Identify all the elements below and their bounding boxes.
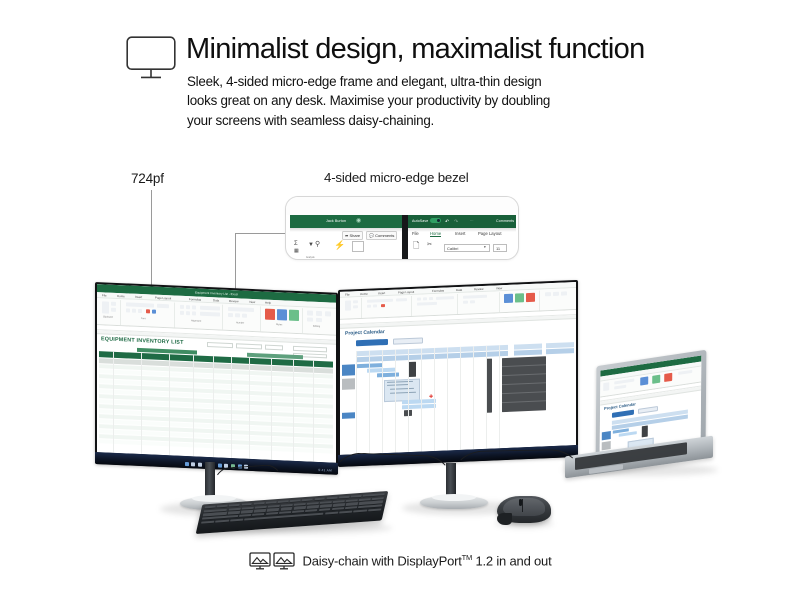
mouse-button-split	[522, 499, 523, 512]
monitor-left: Equipment Inventory List - Excel File Ho…	[95, 282, 338, 475]
excel-window-right: File Home Insert Page Layout Formulas Da…	[340, 282, 576, 455]
tab-home[interactable]: Home	[117, 294, 125, 298]
comments-button[interactable]: 💬 Comments	[366, 231, 397, 240]
clock-left: 9:41 AM	[318, 468, 332, 473]
monitor-right-screen: File Home Insert Page Layout Formulas Da…	[340, 282, 576, 455]
ribbon-group-clipboard	[342, 298, 362, 319]
redo-icon[interactable]: ↷	[454, 219, 458, 225]
right-dots: ⋯	[470, 219, 474, 223]
ribbon-group-alignment	[414, 294, 458, 316]
tab-review[interactable]: Review	[474, 287, 483, 291]
mouse-thumb-rest	[497, 513, 512, 525]
tab-data[interactable]: Data	[213, 298, 219, 302]
bezel-callout-label: 4-sided micro-edge bezel	[324, 170, 469, 185]
spreadsheet-right[interactable]: Project Calendar	[340, 315, 576, 455]
start-icon[interactable]	[185, 462, 189, 466]
day-header-row-3	[546, 348, 574, 354]
trademark-symbol: TM	[462, 553, 472, 562]
excel-window-left: Equipment Inventory List - Excel File Ho…	[97, 284, 336, 463]
day-header-row-2	[514, 349, 542, 355]
left-titlebar-user: Jack Burton	[326, 219, 346, 223]
mouse[interactable]	[497, 490, 551, 526]
gantt-bar-dark[interactable]	[642, 425, 648, 437]
ribbon-group-font	[364, 296, 412, 318]
tab-formulas[interactable]: Formulas	[189, 297, 201, 302]
chevron-down-icon[interactable]: ▾	[484, 245, 486, 249]
filter-box-2[interactable]	[236, 343, 262, 349]
monitor-icon	[126, 36, 176, 82]
description-line-2: looks great on any desk. Maximise your p…	[187, 91, 657, 110]
ribbon-group-number	[460, 292, 500, 314]
tab-help[interactable]: Help	[265, 301, 271, 305]
tab-insert[interactable]: Insert	[135, 295, 142, 299]
gantt-bar-dark[interactable]	[486, 359, 492, 413]
tab-insert[interactable]: Insert	[378, 291, 385, 295]
search-icon[interactable]	[191, 462, 195, 466]
right-glare	[408, 228, 516, 232]
share-button[interactable]: ➦ Share	[342, 231, 363, 240]
right-comments-label: Comments	[496, 219, 514, 223]
monitor-right: File Home Insert Page Layout Formulas Da…	[338, 280, 578, 467]
filter-icon[interactable]: ▼	[308, 242, 314, 248]
filter-box-4[interactable]	[293, 346, 327, 353]
review-label	[342, 412, 355, 419]
ribbon-group-alignment: Alignment	[177, 303, 223, 330]
phase-two-label	[602, 441, 611, 450]
sigma-icon[interactable]: Σ	[294, 241, 298, 247]
ribbon-group-styles	[502, 291, 540, 313]
phase-one-label	[602, 431, 611, 440]
spreadsheet-left[interactable]: EQUIPMENT INVENTORY LIST	[97, 330, 336, 463]
desk-scene: Equipment Inventory List - Excel File Ho…	[0, 250, 800, 560]
date-button[interactable]	[393, 337, 423, 344]
description-line-1: Sleek, 4-sided micro-edge frame and eleg…	[187, 72, 657, 91]
phase-two-label	[342, 378, 355, 390]
flash-fill-icon[interactable]: ⚡	[334, 241, 345, 250]
footer-text-after: 1.2 in and out	[472, 554, 551, 569]
gantt-bar[interactable]	[377, 372, 399, 377]
bubble-top-blank	[286, 197, 518, 215]
scissors-icon[interactable]: ✂	[427, 242, 432, 248]
page-title: Minimalist design, maximalist function	[186, 33, 645, 66]
undo-icon[interactable]: ↶	[445, 219, 449, 225]
filter-box-1[interactable]	[207, 342, 233, 348]
user-avatar-icon: ◉	[356, 218, 361, 224]
date-button[interactable]	[638, 406, 658, 414]
gantt-bar-dark[interactable]	[408, 362, 416, 377]
tab-view[interactable]: View	[249, 300, 255, 304]
model-label: 724pf	[131, 171, 164, 186]
tab-home[interactable]: Home	[360, 292, 368, 296]
ribbon-group-number: Number	[225, 305, 261, 332]
footer-text-before: Daisy-chain with DisplayPort	[303, 554, 462, 569]
paste-icon[interactable]: 🗋	[413, 242, 419, 250]
ribbon-group-editing	[543, 289, 573, 310]
tab-review[interactable]: Review	[229, 299, 238, 303]
sheet-title-left: EQUIPMENT INVENTORY LIST	[101, 336, 184, 346]
new-project-button[interactable]	[612, 410, 634, 418]
dual-display-icon	[249, 552, 295, 570]
ribbon-group-font: Font	[123, 300, 175, 327]
right-titlebar: AutoSave ↶ ↷ ⋯ Comments	[408, 215, 516, 228]
search-icon[interactable]: ⚲	[315, 241, 320, 248]
excel-title-left: Equipment Inventory List - Excel	[195, 290, 238, 296]
description-line-3: your screens with seamless daisy-chainin…	[187, 111, 657, 130]
footer-text: Daisy-chain with DisplayPortTM 1.2 in an…	[303, 553, 552, 568]
mail-icon[interactable]	[218, 463, 222, 467]
sheet-title-right: Project Calendar	[345, 329, 385, 337]
left-titlebar: Jack Burton ◉	[290, 215, 402, 228]
tab-page-layout[interactable]: Page Layout	[398, 290, 414, 295]
monitor-left-screen: Equipment Inventory List - Excel File Ho…	[97, 284, 336, 463]
tab-view[interactable]: View	[496, 286, 502, 290]
left-glare	[290, 228, 402, 232]
tab-data[interactable]: Data	[456, 288, 462, 292]
footer-caption: Daisy-chain with DisplayPortTM 1.2 in an…	[0, 552, 800, 570]
page-description: Sleek, 4-sided micro-edge frame and eleg…	[187, 72, 657, 130]
mouse-scroll-wheel[interactable]	[519, 499, 522, 506]
mouse-body[interactable]	[497, 496, 551, 523]
tab-page-layout[interactable]: Page Layout	[155, 296, 171, 301]
autosave-label: AutoSave	[412, 219, 428, 223]
tab-file[interactable]: File	[345, 293, 350, 297]
product-marketing-image: Minimalist design, maximalist function S…	[0, 0, 800, 600]
ribbon-group-editing: Editing	[305, 308, 336, 334]
taskview-icon[interactable]	[198, 463, 202, 467]
ribbon-group-clipboard: Clipboard	[99, 299, 121, 325]
autosave-toggle[interactable]	[430, 218, 441, 223]
phase-one-label	[342, 364, 355, 376]
tab-formulas[interactable]: Formulas	[432, 289, 444, 294]
tab-file[interactable]: File	[102, 293, 107, 297]
new-project-button[interactable]	[356, 339, 388, 346]
cursor-marker: ✚	[429, 395, 433, 400]
ribbon-group-styles: Styles	[263, 306, 303, 333]
filter-box-3[interactable]	[265, 345, 283, 351]
